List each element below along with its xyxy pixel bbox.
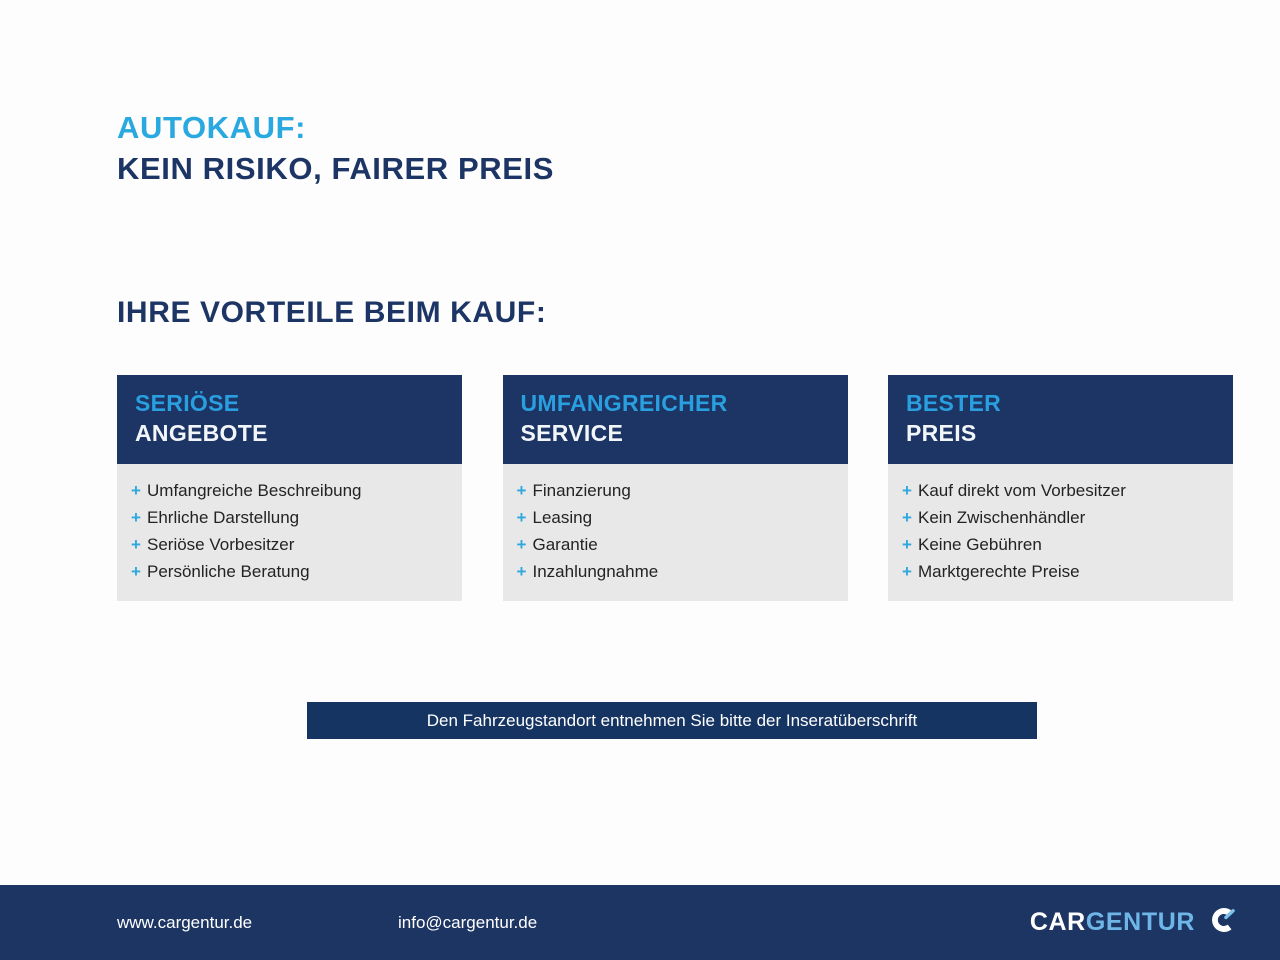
list-item-label: Umfangreiche Beschreibung — [147, 477, 362, 504]
location-notice-banner: Den Fahrzeugstandort entnehmen Sie bitte… — [307, 702, 1037, 739]
plus-icon: + — [517, 504, 533, 531]
logo-text-car: CAR — [1030, 908, 1086, 936]
list-item-label: Leasing — [533, 504, 593, 531]
plus-icon: + — [131, 477, 147, 504]
feature-list-offers: + Umfangreiche Beschreibung + Ehrliche D… — [131, 477, 448, 585]
plus-icon: + — [517, 531, 533, 558]
list-item-label: Finanzierung — [533, 477, 631, 504]
benefits-card-group: SERIÖSE ANGEBOTE + Umfangreiche Beschrei… — [117, 375, 1233, 601]
plus-icon: + — [902, 477, 918, 504]
plus-icon: + — [131, 558, 147, 585]
section-heading: IHRE VORTEILE BEIM KAUF: — [117, 296, 546, 330]
list-item-label: Ehrliche Darstellung — [147, 504, 299, 531]
card-body-service: + Finanzierung + Leasing + Garantie + In… — [503, 464, 848, 601]
c-swoosh-icon — [1206, 904, 1238, 941]
list-item: + Finanzierung — [517, 477, 834, 504]
list-item-label: Inzahlungnahme — [533, 558, 659, 585]
feature-list-price: + Kauf direkt vom Vorbesitzer + Kein Zwi… — [902, 477, 1219, 585]
plus-icon: + — [902, 531, 918, 558]
card-body-price: + Kauf direkt vom Vorbesitzer + Kein Zwi… — [888, 464, 1233, 601]
footer-website-link[interactable]: www.cargentur.de — [117, 913, 252, 933]
list-item-label: Kauf direkt vom Vorbesitzer — [918, 477, 1126, 504]
plus-icon: + — [517, 558, 533, 585]
card-header-top-line: UMFANGREICHER — [521, 388, 830, 418]
list-item: + Leasing — [517, 504, 834, 531]
plus-icon: + — [902, 504, 918, 531]
card-header-bottom-line: PREIS — [906, 418, 1215, 448]
list-item: + Persönliche Beratung — [131, 558, 448, 585]
benefit-card-price: BESTER PREIS + Kauf direkt vom Vorbesitz… — [888, 375, 1233, 601]
logo-text-gentur: GENTUR — [1086, 908, 1195, 936]
list-item-label: Persönliche Beratung — [147, 558, 310, 585]
card-header-price: BESTER PREIS — [888, 375, 1233, 464]
list-item-label: Kein Zwischenhändler — [918, 504, 1085, 531]
list-item-label: Seriöse Vorbesitzer — [147, 531, 294, 558]
card-body-offers: + Umfangreiche Beschreibung + Ehrliche D… — [117, 464, 462, 601]
card-header-service: UMFANGREICHER SERVICE — [503, 375, 848, 464]
plus-icon: + — [517, 477, 533, 504]
feature-list-service: + Finanzierung + Leasing + Garantie + In… — [517, 477, 834, 585]
list-item: + Garantie — [517, 531, 834, 558]
cargentur-logo: CARGENTUR — [1030, 904, 1238, 941]
title-line-2: KEIN RISIKO, FAIRER PREIS — [117, 148, 554, 190]
logo-wordmark: CARGENTUR — [1030, 910, 1195, 935]
list-item-label: Keine Gebühren — [918, 531, 1042, 558]
card-header-top-line: SERIÖSE — [135, 388, 444, 418]
title-line-1: AUTOKAUF: — [117, 108, 554, 148]
page-title: AUTOKAUF: KEIN RISIKO, FAIRER PREIS — [117, 108, 554, 190]
benefit-card-offers: SERIÖSE ANGEBOTE + Umfangreiche Beschrei… — [117, 375, 462, 601]
list-item: + Kauf direkt vom Vorbesitzer — [902, 477, 1219, 504]
card-header-bottom-line: SERVICE — [521, 418, 830, 448]
plus-icon: + — [131, 531, 147, 558]
footer-bar: www.cargentur.de info@cargentur.de CARGE… — [0, 885, 1280, 960]
card-header-offers: SERIÖSE ANGEBOTE — [117, 375, 462, 464]
card-header-top-line: BESTER — [906, 388, 1215, 418]
card-header-bottom-line: ANGEBOTE — [135, 418, 444, 448]
list-item: + Ehrliche Darstellung — [131, 504, 448, 531]
list-item: + Seriöse Vorbesitzer — [131, 531, 448, 558]
plus-icon: + — [902, 558, 918, 585]
list-item: + Inzahlungnahme — [517, 558, 834, 585]
list-item: + Kein Zwischenhändler — [902, 504, 1219, 531]
list-item-label: Garantie — [533, 531, 598, 558]
list-item: + Marktgerechte Preise — [902, 558, 1219, 585]
plus-icon: + — [131, 504, 147, 531]
footer-email-link[interactable]: info@cargentur.de — [398, 913, 537, 933]
benefit-card-service: UMFANGREICHER SERVICE + Finanzierung + L… — [503, 375, 848, 601]
slide-canvas: AUTOKAUF: KEIN RISIKO, FAIRER PREIS IHRE… — [0, 0, 1280, 960]
list-item: + Umfangreiche Beschreibung — [131, 477, 448, 504]
list-item-label: Marktgerechte Preise — [918, 558, 1080, 585]
list-item: + Keine Gebühren — [902, 531, 1219, 558]
